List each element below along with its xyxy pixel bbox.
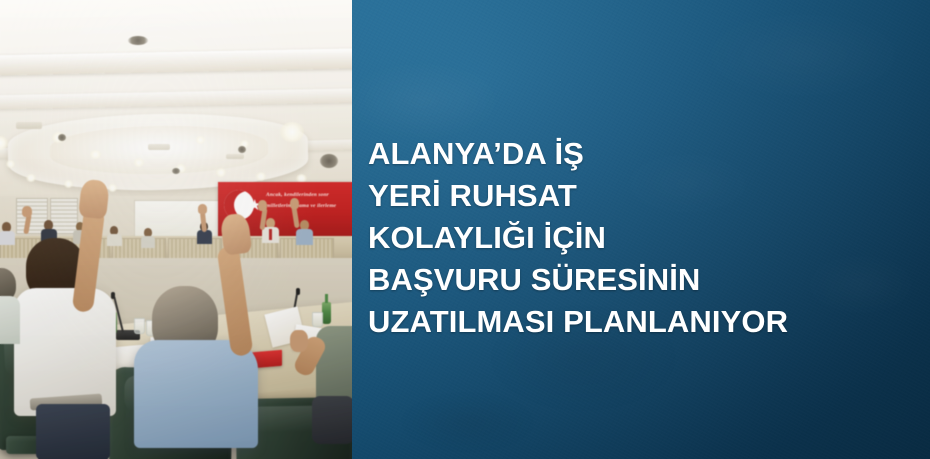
torso — [141, 236, 155, 248]
banner-quote-line-1: Ancak, kendilerinden sonr — [266, 191, 352, 200]
raised-hand — [78, 179, 110, 220]
desk-panel — [168, 238, 222, 260]
microphone-head — [296, 288, 300, 295]
ceiling-vent — [148, 144, 170, 150]
ceiling-light — [196, 136, 205, 144]
headline-line-4: BAŞVURU SÜRESİNİN — [368, 259, 916, 301]
torso — [316, 326, 352, 404]
headline-panel: ALANYA’DA İŞ YERİ RUHSAT KOLAYLIĞI İÇİN … — [352, 0, 930, 459]
ceiling-light — [134, 158, 144, 167]
headline-line-3: KOLAYLIĞI İÇİN — [368, 217, 916, 259]
torso — [0, 296, 20, 344]
news-thumbnail-card: Ancak, kendilerinden sonr milletlerini a… — [0, 0, 930, 459]
drinking-glass — [312, 312, 323, 327]
ceiling-speaker — [172, 168, 180, 174]
ceiling-speaker — [58, 134, 66, 141]
necktie — [269, 229, 272, 240]
headline-line-2: YERİ RUHSAT — [368, 175, 916, 217]
torso — [296, 229, 313, 245]
headline-line-1: ALANYA’DA İŞ — [368, 133, 916, 175]
torso — [107, 234, 122, 246]
ceiling-light — [280, 122, 304, 142]
banner-quote-line-2: milletlerini aşama ve ilerleme — [266, 202, 352, 211]
page-title: ALANYA’DA İŞ YERİ RUHSAT KOLAYLIĞI İÇİN … — [368, 133, 916, 343]
hand — [290, 198, 299, 209]
ceiling-light — [26, 174, 36, 182]
torso — [0, 231, 15, 245]
torso — [197, 230, 212, 244]
ceiling-speaker — [128, 36, 148, 45]
microphone-head — [111, 292, 115, 299]
ceiling-vent — [226, 154, 244, 159]
bottle-neck — [325, 294, 328, 303]
headline-line-5: UZATILMASI PLANLANIYOR — [368, 301, 916, 343]
hand — [258, 200, 267, 211]
ceiling-light — [64, 180, 73, 188]
ceiling-band — [0, 88, 352, 109]
ceiling-light — [108, 184, 117, 192]
bag — [312, 396, 352, 444]
drinking-glass — [134, 318, 145, 334]
hand — [198, 204, 207, 214]
light-blue-shirt-torso — [134, 340, 258, 448]
ceiling-light — [6, 160, 15, 168]
ceiling-projector — [320, 154, 338, 168]
trousers — [36, 404, 110, 459]
ceiling-light — [256, 172, 266, 181]
ceiling-speaker — [238, 146, 246, 153]
ceiling-vent — [16, 122, 42, 129]
hand — [290, 330, 308, 352]
ceiling-light — [216, 168, 226, 177]
ceiling-light — [90, 150, 101, 159]
water-bottle — [322, 302, 331, 324]
hand — [22, 206, 32, 217]
ceiling-band — [0, 48, 352, 75]
news-photo: Ancak, kendilerinden sonr milletlerini a… — [0, 0, 352, 459]
